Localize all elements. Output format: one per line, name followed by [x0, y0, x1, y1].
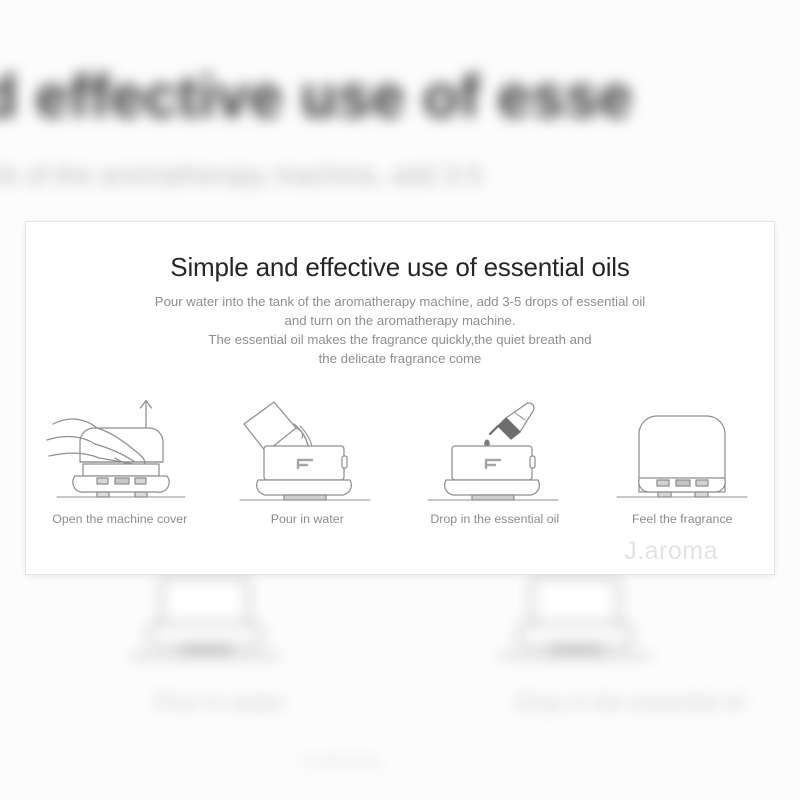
dropper-bottle-icon [410, 394, 580, 506]
steps-row: Open the machine cover [26, 394, 775, 526]
background-diffuser-icon-2 [490, 560, 770, 680]
instruction-line-1: Pour water into the tank of the aromathe… [84, 292, 716, 311]
background-watermark: J.aroma [300, 748, 379, 774]
step-caption-3: Drop in the essential oil [401, 512, 589, 526]
product-infographic-page: and effective use of esse r tank of the … [0, 0, 800, 800]
brand-watermark: J.aroma [624, 537, 718, 566]
instruction-line-3: The essential oil makes the fragrance qu… [84, 330, 716, 349]
instruction-line-2: and turn on the aromatherapy machine. [84, 311, 716, 330]
background-title-text: and effective use of esse [0, 62, 800, 131]
step-feel-the-fragrance: Feel the fragrance [589, 394, 776, 526]
step-caption-4: Feel the fragrance [589, 512, 776, 526]
step-caption-2: Pour in water [214, 512, 402, 526]
step-illustration-1 [26, 394, 214, 506]
step-caption-1: Open the machine cover [26, 512, 214, 526]
page-title: Simple and effective use of essential oi… [26, 252, 774, 283]
closed-diffuser-icon [597, 394, 767, 506]
instruction-line-4: the delicate fragrance come [84, 349, 716, 368]
background-subtitle-text: r tank of the aromatherapy machine, add … [0, 160, 800, 191]
step-drop-essential-oil: Drop in the essential oil [401, 394, 589, 526]
background-step-drop-oil: Drop in the essential oil [490, 560, 770, 716]
background-steps-row: Pour in water Drop in the essential oil [0, 560, 800, 800]
background-caption-2: Drop in the essential oil [490, 690, 770, 716]
step-illustration-3 [401, 394, 589, 506]
step-open-machine-cover: Open the machine cover [26, 394, 214, 526]
step-illustration-2 [214, 394, 402, 506]
background-diffuser-icon [120, 560, 320, 680]
step-pour-in-water: Pour in water [214, 394, 402, 526]
hand-lifting-cover-icon [35, 394, 205, 506]
step-illustration-4 [589, 394, 776, 506]
instruction-paragraph: Pour water into the tank of the aromathe… [26, 292, 774, 368]
instruction-card: Simple and effective use of essential oi… [25, 221, 775, 575]
background-step-pour-water: Pour in water [120, 560, 320, 716]
background-caption: Pour in water [120, 690, 320, 716]
cup-pouring-water-icon [222, 394, 392, 506]
